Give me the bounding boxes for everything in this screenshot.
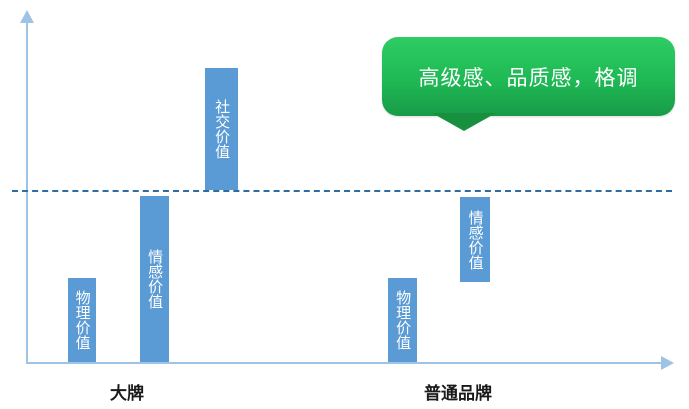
category-label-putong: 普通品牌	[424, 379, 492, 404]
y-axis-arrow-icon	[20, 10, 34, 23]
bar-label: 物理价值	[74, 290, 89, 350]
bar-daipai-social[interactable]: 社交价值	[205, 68, 238, 190]
bar-putong-emotional[interactable]: 情感价值	[460, 197, 490, 282]
x-axis-arrow-icon	[661, 356, 674, 370]
bar-label: 物理价值	[395, 290, 410, 350]
bar-putong-physical[interactable]: 物理价值	[388, 278, 417, 362]
x-axis-line	[26, 362, 666, 364]
callout-text: 高级感、品质感，格调	[419, 62, 639, 92]
bar-label: 情感价值	[147, 249, 162, 309]
callout-tail-icon	[432, 113, 496, 131]
callout-annotation[interactable]: 高级感、品质感，格调	[382, 37, 675, 116]
bar-label: 社交价值	[214, 99, 229, 159]
bar-daipai-physical[interactable]: 物理价值	[68, 278, 96, 362]
chart-canvas: 物理价值情感价值社交价值物理价值情感价值 大牌普通品牌 高级感、品质感，格调	[0, 0, 689, 409]
threshold-dashed-line	[12, 190, 672, 192]
category-label-daipai: 大牌	[110, 379, 144, 404]
bar-daipai-emotional[interactable]: 情感价值	[140, 196, 169, 362]
callout-body: 高级感、品质感，格调	[382, 37, 675, 116]
y-axis-line	[26, 12, 28, 364]
bar-label: 情感价值	[467, 210, 482, 270]
